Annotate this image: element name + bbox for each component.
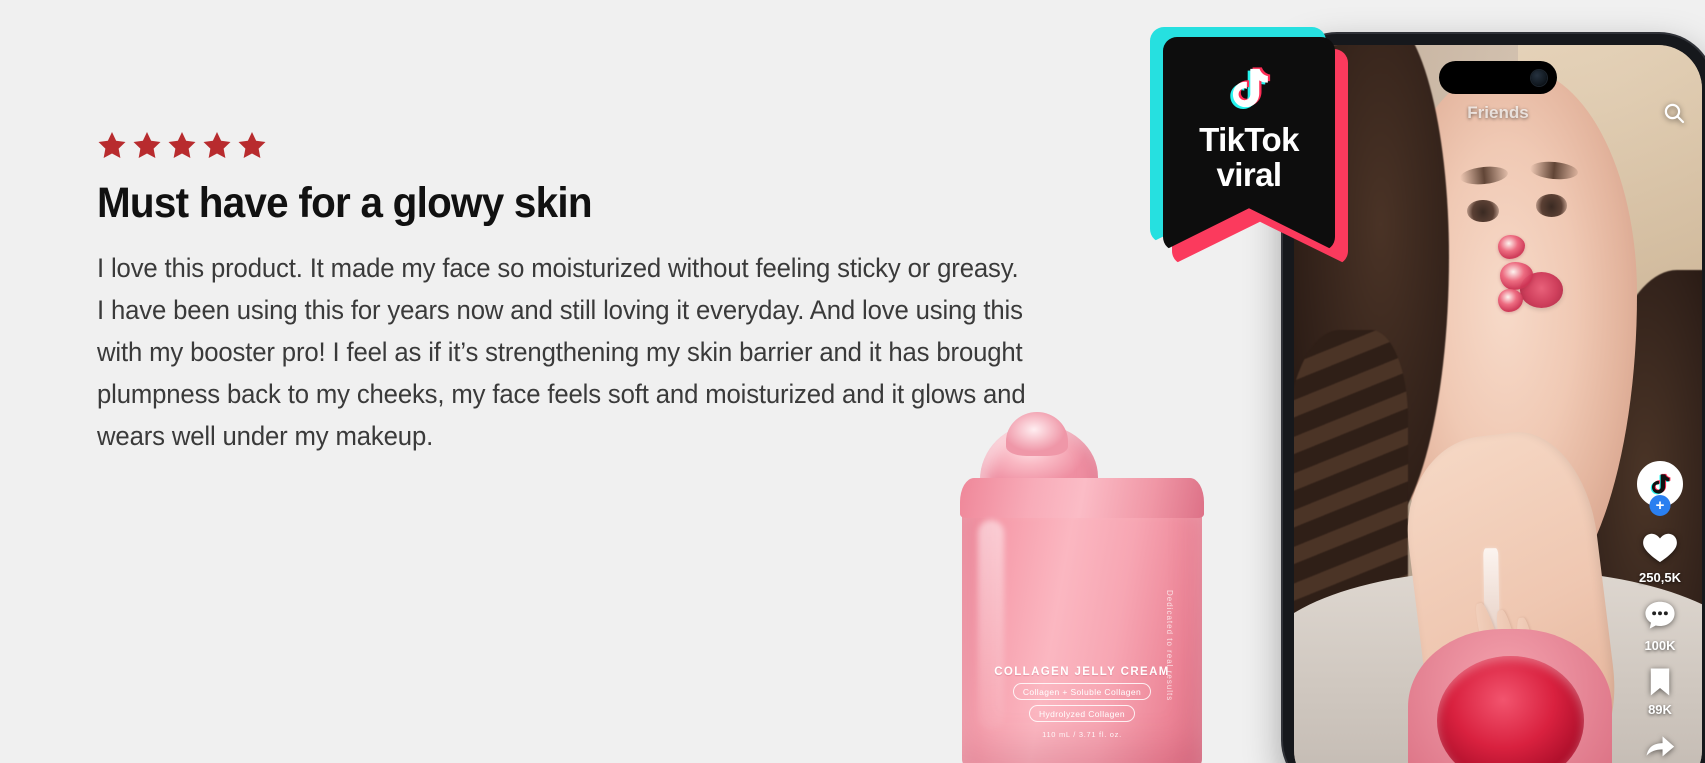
comment-button[interactable]: 100K xyxy=(1641,597,1679,653)
badge-line-1: TikTok xyxy=(1199,123,1299,158)
product-jar: Dedicated to real results COLLAGEN JELLY… xyxy=(962,424,1214,763)
ingredient-pill-1: Collagen + Soluble Collagen xyxy=(1013,683,1151,700)
follow-button[interactable]: + xyxy=(1650,495,1671,516)
comment-count: 100K xyxy=(1644,638,1675,653)
like-button[interactable]: 250,5K xyxy=(1639,527,1681,585)
eye-left xyxy=(1467,200,1499,223)
share-icon[interactable] xyxy=(1641,729,1679,763)
product-name: COLLAGEN JELLY CREAM xyxy=(994,666,1170,678)
phone-screen: Friends + xyxy=(1294,45,1702,763)
held-jar xyxy=(1408,629,1612,763)
save-count: 89K xyxy=(1648,702,1672,717)
comment-icon[interactable] xyxy=(1641,597,1679,635)
badge-line-2: viral xyxy=(1217,158,1282,193)
review-body-text: I love this product. It made my face so … xyxy=(97,248,1028,457)
tab-friends[interactable]: Friends xyxy=(1467,103,1528,123)
star-icon xyxy=(132,130,162,160)
share-button[interactable] xyxy=(1641,729,1679,763)
eye-right xyxy=(1536,194,1568,217)
creator-avatar[interactable]: + xyxy=(1637,461,1683,507)
tiktok-logo-icon xyxy=(1647,471,1673,497)
search-icon[interactable] xyxy=(1662,101,1686,125)
jar-body: Dedicated to real results COLLAGEN JELLY… xyxy=(962,494,1202,763)
star-icon xyxy=(167,130,197,160)
product-size: 110 mL / 3.71 fl. oz. xyxy=(1042,730,1122,739)
review-title: Must have for a glowy skin xyxy=(97,180,999,226)
star-icon xyxy=(202,130,232,160)
jar-lid xyxy=(960,478,1204,518)
eyebrow-left xyxy=(1459,165,1509,187)
front-camera-icon xyxy=(1531,70,1547,86)
star-icon xyxy=(237,130,267,160)
tiktok-viral-badge: TikTok viral xyxy=(1150,25,1346,273)
tiktok-action-rail: + 250,5K 100K xyxy=(1628,461,1692,763)
star-icon xyxy=(97,130,127,160)
save-button[interactable]: 89K xyxy=(1643,665,1677,717)
heart-icon[interactable] xyxy=(1640,527,1680,567)
like-count: 250,5K xyxy=(1639,570,1681,585)
eyebrow-right xyxy=(1530,160,1579,181)
bookmark-icon[interactable] xyxy=(1643,665,1677,699)
cream-swatch xyxy=(1498,289,1523,313)
review-panel: Must have for a glowy skin I love this p… xyxy=(97,130,1057,457)
cream-swatch xyxy=(1498,235,1526,260)
tiktok-top-nav: Friends xyxy=(1294,103,1702,123)
dynamic-island xyxy=(1439,61,1557,94)
star-rating xyxy=(97,130,1057,160)
ingredient-pill-2: Hydrolyzed Collagen xyxy=(1029,705,1135,722)
badge-content: TikTok viral xyxy=(1163,37,1335,251)
jar-label: COLLAGEN JELLY CREAM Collagen + Soluble … xyxy=(962,666,1202,739)
tiktok-logo-icon xyxy=(1223,59,1275,117)
